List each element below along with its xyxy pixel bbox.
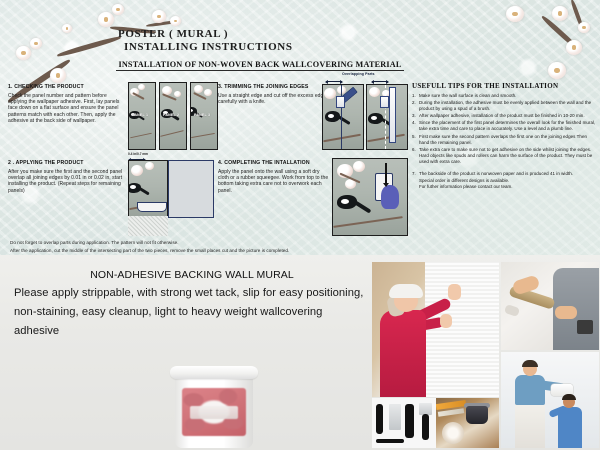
photo-man-hair bbox=[522, 360, 538, 367]
bucket-lid bbox=[170, 366, 258, 379]
tip-number: 5. bbox=[412, 134, 416, 140]
measure-label: 0.4 in/0.7 mm bbox=[128, 152, 148, 156]
tip-item: 7.The backside of the product is nonwove… bbox=[412, 171, 598, 177]
tip-number: 7. bbox=[412, 171, 416, 177]
photo-rolled-wallpaper bbox=[442, 422, 464, 444]
step-2-heading: 2 . APPLYING THE PRODUCT bbox=[8, 160, 126, 166]
tip-item: 5.First make sure the second pattern ove… bbox=[412, 134, 598, 146]
photo-cap bbox=[389, 284, 423, 298]
tip-text: The backside of the product is nonwoven … bbox=[419, 171, 573, 176]
instruction-sheet: POSTER ( MURAL ) INSTALLING INSTRUCTIONS… bbox=[0, 0, 600, 450]
wall-surface bbox=[168, 160, 214, 218]
note-line-1: Do not forget to overlap parts during ap… bbox=[10, 239, 480, 247]
final-panel-image bbox=[332, 158, 408, 236]
note-line-2: After the application, cut the middle of… bbox=[10, 247, 480, 255]
cut-line bbox=[385, 85, 386, 149]
adhesive-bucket-image bbox=[168, 366, 260, 448]
step-4-body: Apply the panel onto the wall using a so… bbox=[218, 169, 330, 195]
panel-1-image: PANEL 1 bbox=[128, 82, 156, 150]
photo-hand-lower bbox=[440, 314, 452, 328]
tip-item: 1.Make sure the wall surface is clean an… bbox=[412, 93, 598, 99]
floor-hatching bbox=[128, 216, 168, 236]
tips-list: 1.Make sure the wall surface is clean an… bbox=[412, 93, 598, 177]
bucket-label-band bbox=[190, 406, 238, 419]
tip-text: After wallpaper adhesive, installation o… bbox=[419, 113, 585, 118]
edge-marker bbox=[380, 96, 389, 108]
photo-man-torso bbox=[515, 375, 545, 405]
photo-woman-hanging-wallpaper bbox=[372, 262, 499, 397]
page-title: POSTER ( MURAL ) bbox=[110, 28, 410, 41]
tip-item: 3.After wallpaper adhesive, installation… bbox=[412, 113, 598, 119]
tip-number: 4. bbox=[412, 120, 416, 126]
step-2-body: After you make sure the first and the se… bbox=[8, 169, 126, 195]
document-header: POSTER ( MURAL ) INSTALLING INSTRUCTIONS… bbox=[110, 28, 410, 72]
photo-child-hair bbox=[562, 394, 576, 400]
step-4-heading: 4. COMPLETING THE INTALLATION bbox=[218, 160, 330, 166]
application-notes: Do not forget to overlap parts during ap… bbox=[10, 239, 480, 254]
tip-number: 3. bbox=[412, 113, 416, 119]
tip-text: First make sure the second pattern overl… bbox=[419, 134, 587, 145]
panel-2-image: PANEL 2 bbox=[159, 82, 187, 150]
tip-number: 2. bbox=[412, 100, 416, 106]
trim-panel-right bbox=[366, 84, 408, 150]
photo-paste-bucket bbox=[466, 406, 488, 424]
tip-item: 4.Since the placement of the first panel… bbox=[412, 120, 598, 132]
figure-completing-installation bbox=[332, 158, 406, 236]
promo-block: NON-ADHESIVE BACKING WALL MURAL Please a… bbox=[14, 268, 370, 341]
overlapping-parts-label: Overlapping Parts bbox=[342, 72, 375, 76]
tool-putty-handle bbox=[422, 414, 429, 440]
photo-torso bbox=[380, 310, 426, 397]
step-3-body: Use a straight edge and cut off the exce… bbox=[218, 93, 330, 106]
photo-hand-right bbox=[555, 306, 577, 319]
straight-edge-right bbox=[389, 87, 396, 143]
header-banner: INSTALLATION OF NON-WOVEN BACK WALLCOVER… bbox=[116, 60, 403, 71]
step-3-trimming-the-joining-edges: 3. TRIMMING THE JOINING EDGES Use a stra… bbox=[218, 84, 330, 105]
tool-knife-handle bbox=[376, 404, 383, 434]
gloved-hand bbox=[381, 185, 399, 209]
squeegee-tool bbox=[137, 202, 167, 212]
tip-number: 6. bbox=[412, 147, 416, 153]
photo-father-and-child bbox=[501, 352, 599, 448]
tool-pen bbox=[376, 439, 404, 443]
photo-tools-on-bench bbox=[436, 398, 499, 448]
tool-smoothing-blade bbox=[389, 404, 401, 430]
photo-hand-tool bbox=[577, 320, 593, 334]
photo-roller-handle bbox=[504, 304, 520, 317]
tip-text: Take extra care to make sure not to get … bbox=[419, 147, 592, 164]
trim-panel-left bbox=[322, 84, 364, 150]
tool-scraper-handle bbox=[405, 404, 414, 438]
photo-wall-surface bbox=[425, 262, 499, 397]
overlap-arrow-left bbox=[326, 81, 342, 82]
figure-trimming-edges: Overlapping Parts bbox=[322, 72, 408, 152]
tips-title: USEFULL TIPS FOR THE INSTALLATION bbox=[412, 82, 598, 90]
panel-2-label: PANEL 2 bbox=[163, 113, 179, 117]
tip-number: 1. bbox=[412, 93, 416, 99]
photo-roller-application bbox=[501, 262, 599, 350]
promo-body: Please apply strippable, with strong wet… bbox=[14, 284, 370, 341]
step-2-applying-the-product: 2 . APPLYING THE PRODUCT After you make … bbox=[8, 160, 126, 194]
step-1-checking-the-product: 1. CHECKING THE PRODUCT Check the panel … bbox=[8, 84, 126, 125]
down-arrow-icon bbox=[385, 163, 387, 183]
panel-1-label: PANEL 1 bbox=[132, 113, 148, 117]
useful-tips-section: USEFULL TIPS FOR THE INSTALLATION 1.Make… bbox=[412, 82, 598, 190]
figure-three-panels: PANEL 1 PANEL 2 PANEL 3 bbox=[128, 82, 218, 150]
panel-3-label: PANEL 3 bbox=[194, 113, 210, 117]
tip-item: 6.Take extra care to make sure not to ge… bbox=[412, 147, 598, 165]
photo-man-legs bbox=[515, 403, 545, 448]
promo-title: NON-ADHESIVE BACKING WALL MURAL bbox=[14, 268, 370, 282]
figure-applying-product: 0.4 in/0.7 mm bbox=[128, 152, 214, 238]
step-1-body: Check the panel number and pattern befor… bbox=[8, 93, 126, 125]
bucket-label bbox=[182, 388, 246, 436]
tip-text: Since the placement of the first panel d… bbox=[419, 120, 595, 131]
tips-footer-line-2: For futher information please contact ou… bbox=[412, 184, 598, 190]
tips-spacer bbox=[412, 166, 598, 170]
photo-hand-upper bbox=[448, 284, 461, 300]
photo-scraper-tools bbox=[372, 398, 436, 448]
page-subtitle: INSTALLING INSTRUCTIONS bbox=[110, 41, 410, 54]
tip-text: During the installation, the adhesive mu… bbox=[419, 100, 591, 111]
straight-edge-left bbox=[336, 96, 345, 108]
step-4-completing-the-installation: 4. COMPLETING THE INTALLATION Apply the … bbox=[218, 160, 330, 194]
tip-item: 2.During the installation, the adhesive … bbox=[412, 100, 598, 112]
step-1-heading: 1. CHECKING THE PRODUCT bbox=[8, 84, 126, 90]
tip-text: Make sure the wall surface is clean and … bbox=[419, 93, 516, 98]
step-3-heading: 3. TRIMMING THE JOINING EDGES bbox=[218, 84, 330, 90]
overlap-arrow-right bbox=[372, 81, 388, 82]
photo-paper-strip bbox=[438, 408, 464, 417]
panel-3-image: PANEL 3 bbox=[190, 82, 218, 150]
